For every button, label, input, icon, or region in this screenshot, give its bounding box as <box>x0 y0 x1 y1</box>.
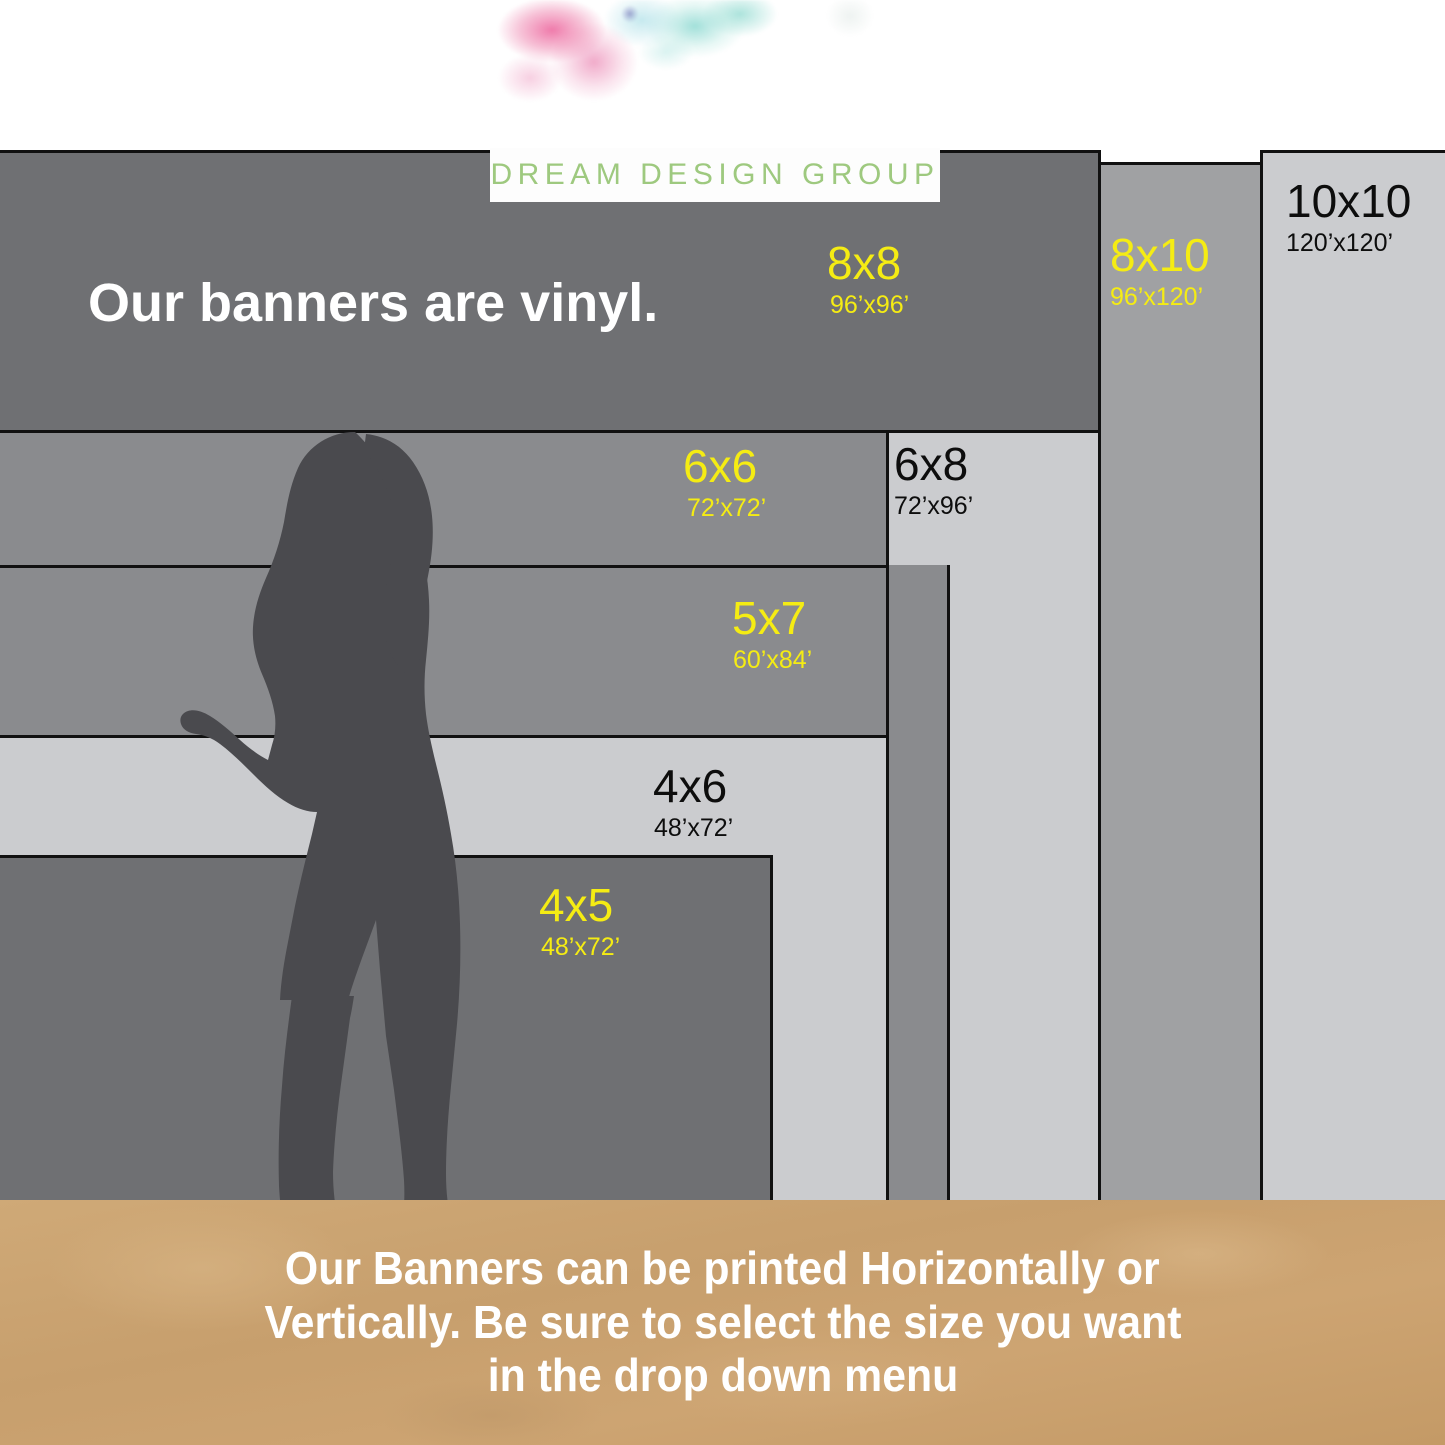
size-dimensions-8x8: 96’x96’ <box>830 293 909 318</box>
size-dimensions-5x7: 60’x84’ <box>733 648 812 673</box>
size-dimensions-6x8: 72’x96’ <box>894 494 973 519</box>
size-name-10x10: 10x10 <box>1286 178 1411 224</box>
size-block-8x10[interactable] <box>1098 162 1263 1203</box>
size-dimensions-8x10: 96’x120’ <box>1110 285 1210 310</box>
banner-size-chart: 8x8 96’x96’ 8x10 96’x120’ 10x10 120’x120… <box>0 0 1445 1445</box>
footer-line-1: Our Banners can be printed Horizontally … <box>285 1242 1160 1296</box>
size-label-6x8: 6x8 72’x96’ <box>894 441 973 519</box>
size-name-4x6: 4x6 <box>653 763 733 809</box>
size-block-4x6-extension <box>770 855 889 1203</box>
size-name-6x8: 6x8 <box>894 441 973 487</box>
size-label-4x5: 4x5 48’x72’ <box>539 882 620 960</box>
size-label-4x6: 4x6 48’x72’ <box>653 763 733 841</box>
page-title: Our banners are vinyl. <box>88 272 658 334</box>
size-block-4x5[interactable] <box>0 855 773 1203</box>
size-block-10x10[interactable] <box>1260 150 1445 1203</box>
size-label-10x10: 10x10 120’x120’ <box>1286 178 1411 256</box>
footer-line-2: Vertically. Be sure to select the size y… <box>264 1296 1181 1350</box>
size-label-6x6: 6x6 72’x72’ <box>683 443 766 521</box>
footer-line-3: in the drop down menu <box>487 1349 958 1403</box>
size-name-5x7: 5x7 <box>732 595 812 641</box>
brand-logo: DREAM DESIGN GROUP <box>490 0 940 205</box>
watercolor-splash-icon <box>490 0 940 125</box>
size-label-5x7: 5x7 60’x84’ <box>732 595 812 673</box>
size-name-6x6: 6x6 <box>683 443 766 489</box>
size-dimensions-4x5: 48’x72’ <box>541 935 620 960</box>
size-dimensions-10x10: 120’x120’ <box>1286 231 1411 256</box>
size-name-4x5: 4x5 <box>539 882 620 928</box>
size-label-8x10: 8x10 96’x120’ <box>1110 232 1210 310</box>
footer-banner: Our Banners can be printed Horizontally … <box>0 1200 1445 1445</box>
size-block-4x6[interactable] <box>0 735 889 858</box>
size-block-5x7-extension <box>886 565 950 1203</box>
size-label-8x8: 8x8 96’x96’ <box>827 240 909 318</box>
size-name-8x8: 8x8 <box>827 240 909 286</box>
logo-plate: DREAM DESIGN GROUP <box>490 148 940 202</box>
size-dimensions-6x6: 72’x72’ <box>687 496 766 521</box>
logo-text: DREAM DESIGN GROUP <box>490 158 939 192</box>
size-name-8x10: 8x10 <box>1110 232 1210 278</box>
size-dimensions-4x6: 48’x72’ <box>654 816 733 841</box>
